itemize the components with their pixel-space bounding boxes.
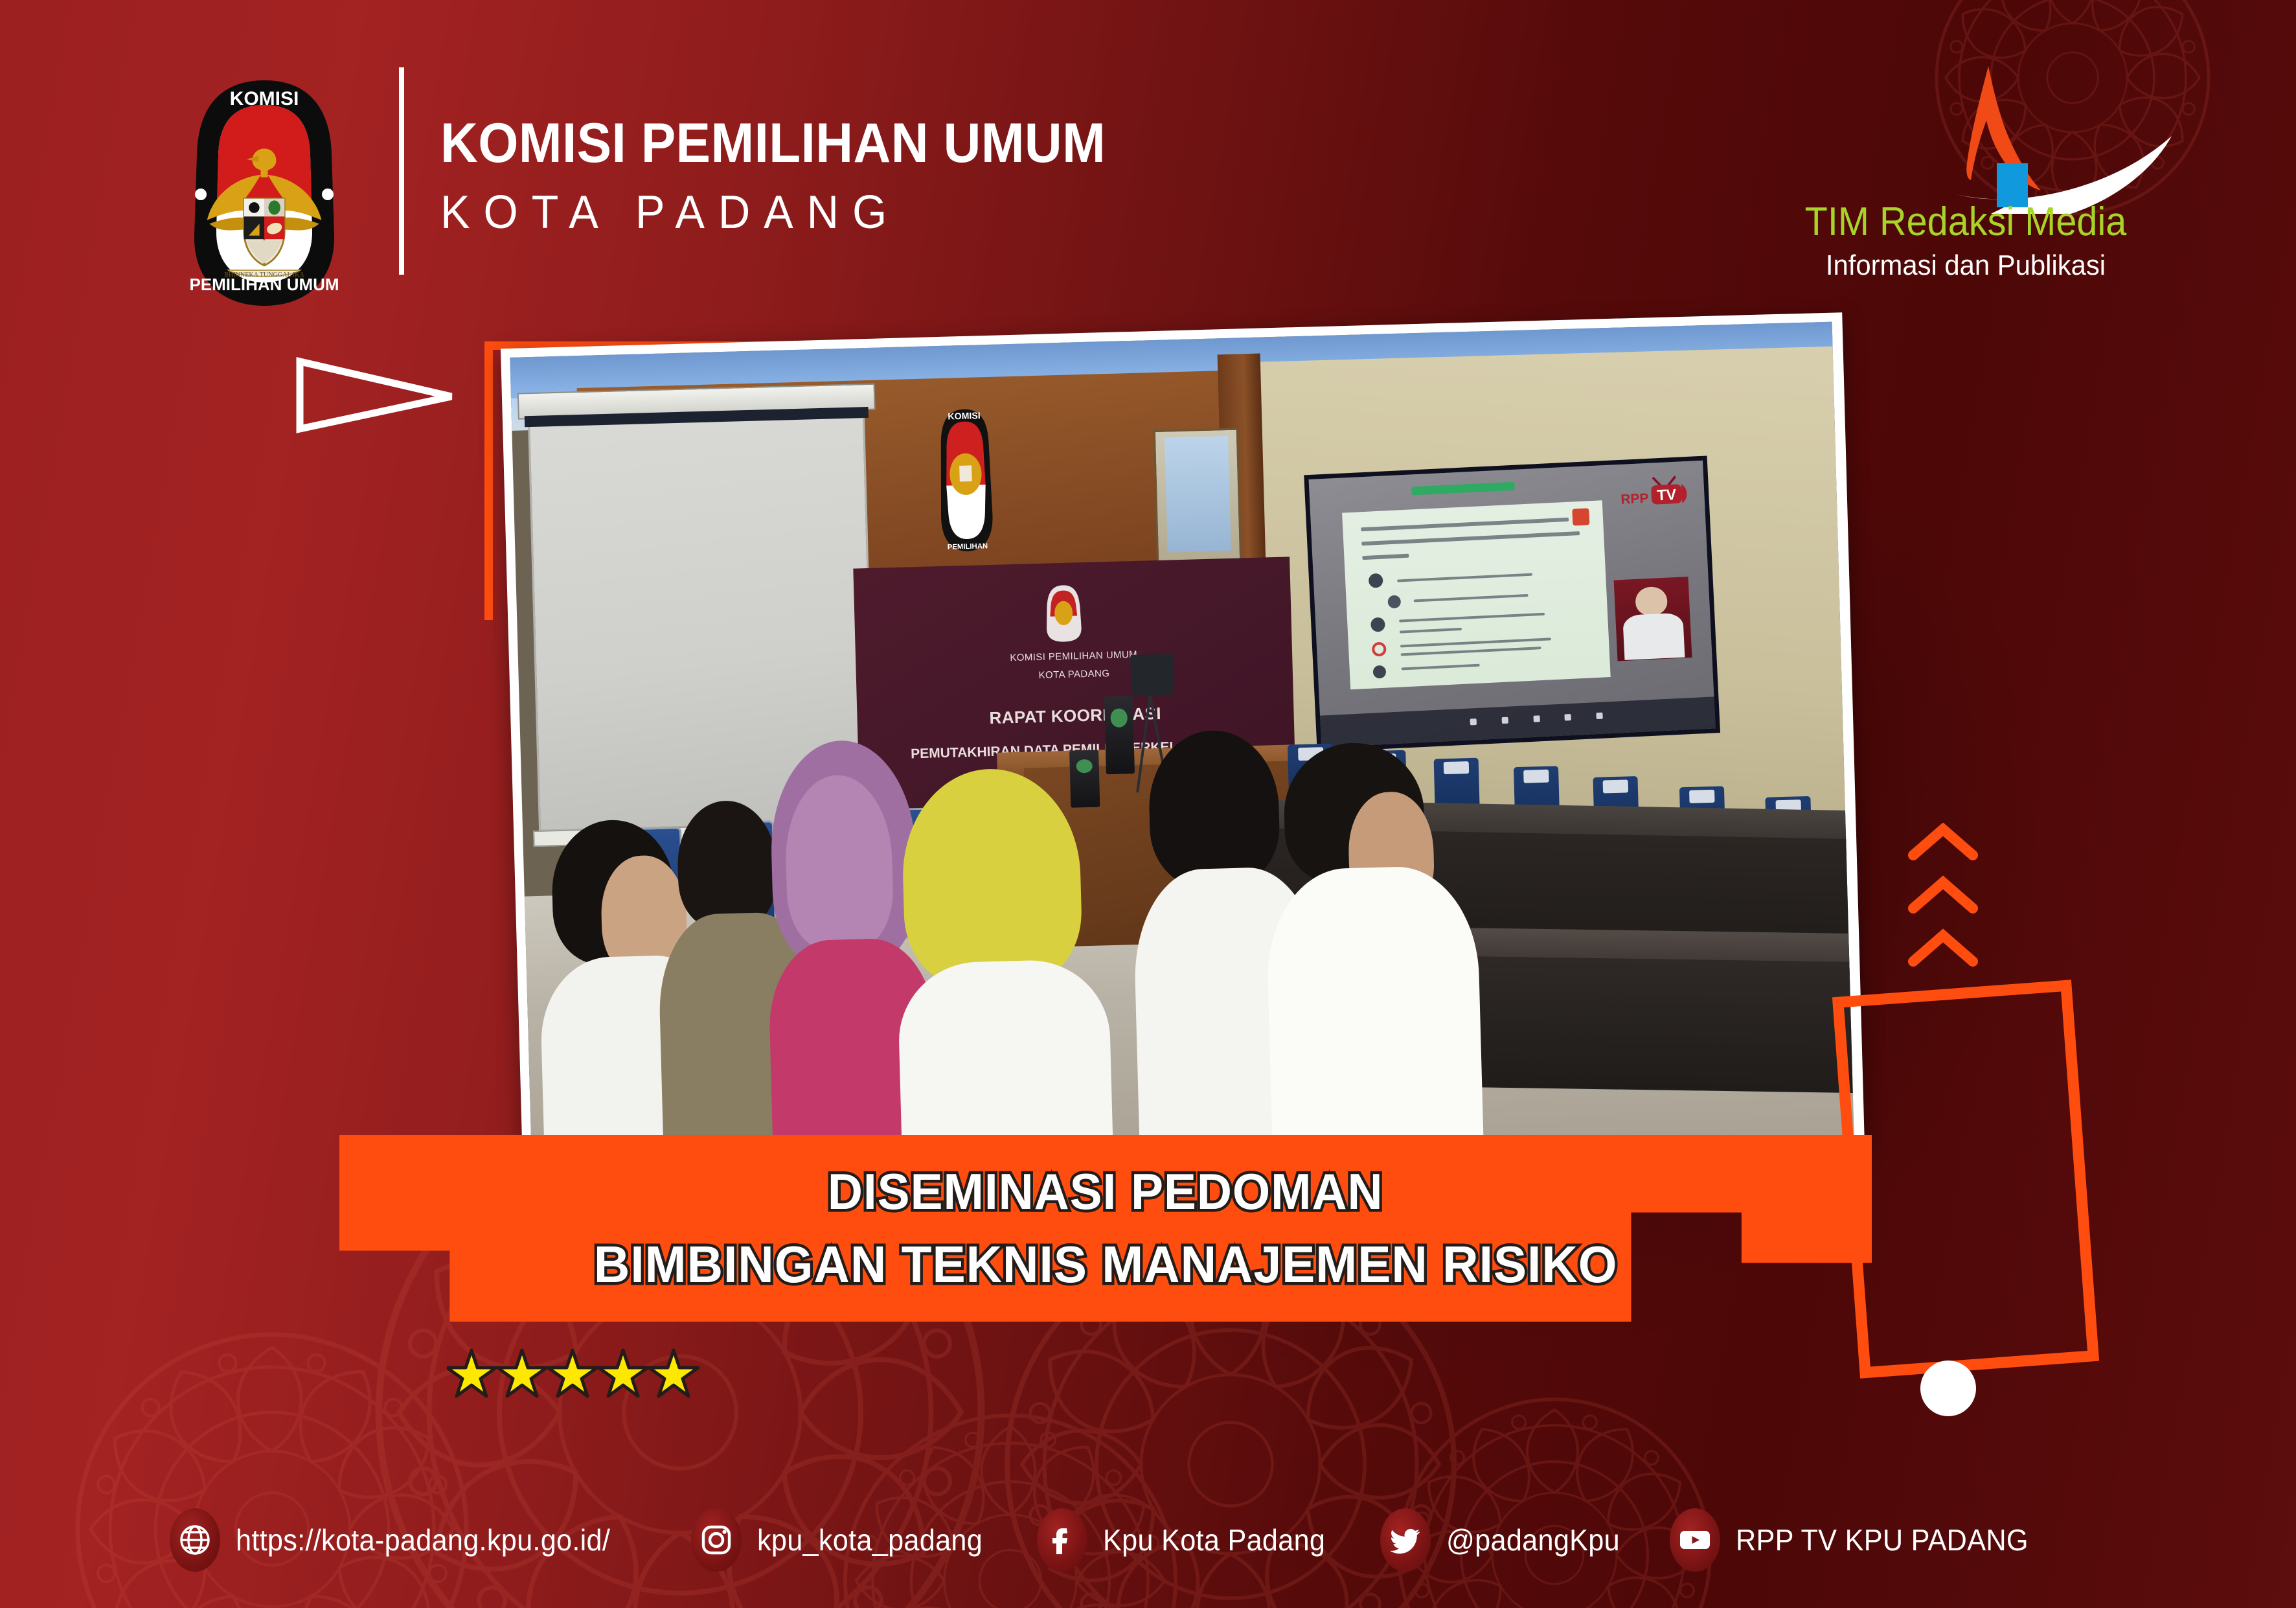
header-title-block: KOMISI PEMILIHAN UMUM KOTA PADANG [440,115,1156,236]
redaksi-subtitle: Informasi dan Publikasi [1751,251,2181,280]
projection-tv-screen: TV RPP [1304,455,1720,752]
footer-item-facebook[interactable]: Kpu Kota Padang [1037,1508,1339,1572]
meeting-top-bar [1412,481,1515,495]
rotated-rectangle-frame-icon [1832,980,2099,1379]
wall-kpu-emblem-icon: KOMISI PEMILIHAN [915,405,1016,555]
page-subtitle: KOTA PADANG [440,189,1120,236]
svg-text:PEMILIHAN UMUM: PEMILIHAN UMUM [189,275,339,294]
audience-person [892,766,1114,1172]
svg-text:TV: TV [1656,486,1677,503]
backdrop-org-line1: KOMISI PEMILIHAN UMUM [856,645,1292,668]
svg-text:KOMISI: KOMISI [230,88,299,109]
star-icon [598,1350,648,1396]
backdrop-org-line2: KOTA PADANG [856,664,1292,687]
footer-label-twitter: @padangKpu [1446,1522,1620,1557]
star-icon [497,1350,547,1396]
svg-text:PEMILIHAN: PEMILIHAN [947,542,988,551]
star-rating [447,1346,699,1398]
header-divider [399,67,404,275]
star-icon [447,1350,496,1396]
footer-item-website[interactable]: https://kota-padang.kpu.go.id/ [170,1508,634,1572]
redaksi-title: TIM Redaksi Media [1755,202,2177,242]
poster-canvas: KOMISI [0,0,2296,1608]
footer-label-facebook: Kpu Kota Padang [1103,1522,1325,1557]
poster-header: KOMISI [0,0,2296,304]
title-banner: DISEMINASI PEDOMAN BIMBINGAN TEKNIS MANA… [339,1135,1872,1322]
backdrop-heading1: RAPAT KOORDINASI [857,701,1293,731]
footer-item-instagram[interactable]: kpu_kota_padang [691,1508,997,1572]
svg-text:KOMISI: KOMISI [948,411,981,422]
kpu-garuda-emblem-icon: KOMISI [161,76,368,310]
instagram-icon [691,1508,742,1572]
backdrop-kpu-logo-icon [1028,582,1099,645]
door-glass [1165,436,1231,552]
page-title: KOMISI PEMILIHAN UMUM [440,115,1106,171]
footer-label-youtube: RPP TV KPU PADANG [1736,1522,2029,1557]
svg-text:RPP: RPP [1620,491,1649,507]
event-photo: KOMISI PEMILIHAN KOMISI PEMILIHAN UMUM K… [501,312,1865,1184]
play-triangle-outline-icon [295,356,457,434]
globe-icon [170,1508,220,1572]
twitter-icon [1380,1508,1431,1572]
footer-item-youtube[interactable]: RPP TV KPU PADANG [1670,1508,2047,1572]
presentation-slide [1342,500,1610,689]
audience-person [1261,740,1484,1162]
footer-social-bar: https://kota-padang.kpu.go.id/ kpu_kota_… [0,1472,2296,1608]
star-icon [649,1350,698,1396]
white-circle-dot-icon [1920,1361,1976,1416]
banner-line-2: BIMBINGAN TEKNIS MANAJEMEN RISIKO [594,1228,1618,1302]
banner-line-1: DISEMINASI PEDOMAN [828,1156,1383,1228]
swoosh-flame-icon [1739,65,2192,214]
youtube-icon [1670,1508,1720,1572]
rpptv-watermark-icon: TV RPP [1609,469,1690,516]
facebook-icon [1037,1508,1087,1572]
triple-chevron-up-icon [1904,823,1982,978]
remote-speaker-video [1613,577,1692,661]
footer-label-instagram: kpu_kota_padang [757,1522,983,1557]
tim-redaksi-logo: TIM Redaksi Media Informasi dan Publikas… [1739,65,2192,304]
video-camera [1131,654,1174,696]
event-photo-image: KOMISI PEMILIHAN KOMISI PEMILIHAN UMUM K… [510,322,1854,1174]
star-icon [548,1350,597,1396]
footer-label-website: https://kota-padang.kpu.go.id/ [236,1522,610,1557]
footer-item-twitter[interactable]: @padangKpu [1380,1508,1631,1572]
